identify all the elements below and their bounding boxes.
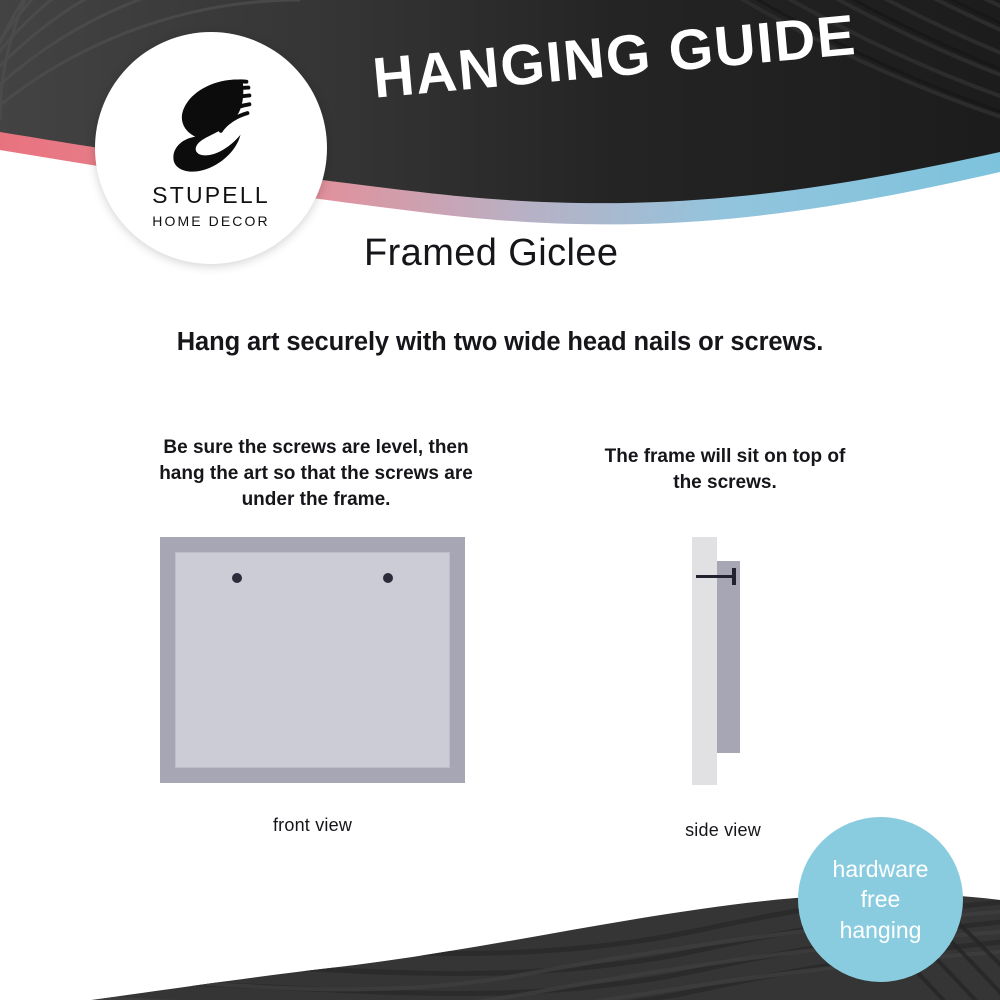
frame-profile: [717, 561, 740, 753]
screw-dot-right-icon: [383, 573, 393, 583]
hardware-free-hanging-badge: hardware free hanging: [798, 817, 963, 982]
badge-line-3: hanging: [840, 915, 922, 946]
screw-shaft-icon: [696, 575, 734, 578]
frame-artwork-area: [175, 552, 450, 768]
front-view-diagram: [160, 537, 465, 783]
product-type-heading: Framed Giclee: [364, 232, 618, 275]
badge-line-1: hardware: [833, 854, 929, 885]
stupell-swoosh-logo-icon: [152, 62, 270, 180]
side-view-label: side view: [648, 820, 798, 841]
side-view-caption: The frame will sit on top of the screws.: [592, 444, 858, 496]
front-view-label: front view: [160, 815, 465, 836]
side-view-diagram: [692, 537, 752, 785]
badge-line-2: free: [861, 884, 901, 915]
brand-subwordmark: HOME DECOR: [152, 213, 269, 229]
front-view-caption: Be sure the screws are level, then hang …: [158, 435, 474, 514]
screw-dot-left-icon: [232, 573, 242, 583]
brand-logo-badge: STUPELL HOME DECOR: [95, 32, 327, 264]
lede-text: Hang art securely with two wide head nai…: [0, 328, 1000, 357]
hanging-guide-page: Framed Giclee Hang art securely with two…: [0, 0, 1000, 1000]
screw-head-icon: [732, 568, 736, 585]
brand-wordmark: STUPELL: [152, 182, 270, 209]
